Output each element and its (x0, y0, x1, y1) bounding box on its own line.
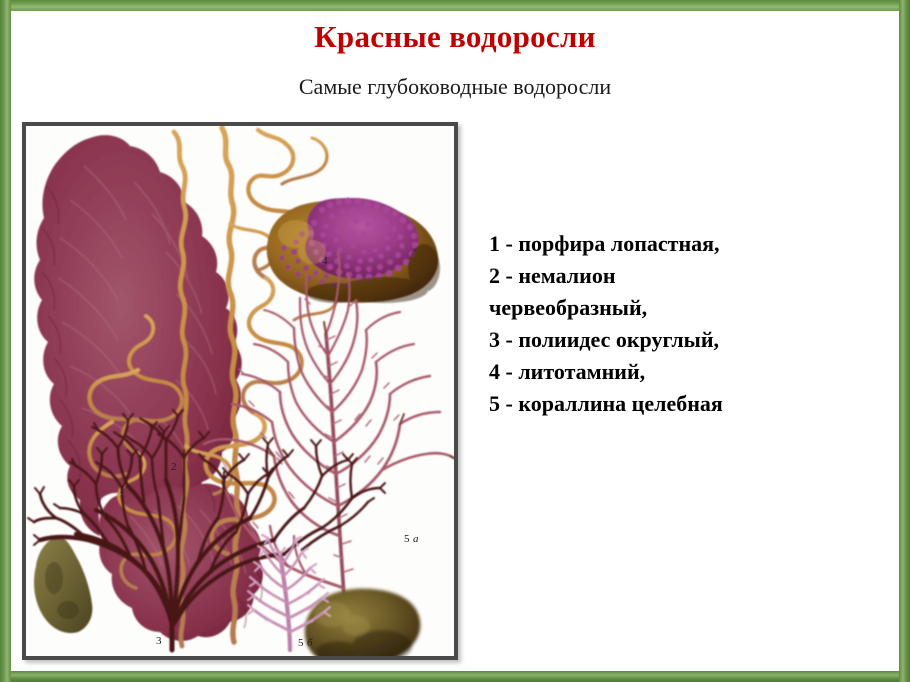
slide-title: Красные водоросли (0, 19, 910, 55)
plate-label-4: 4 (322, 255, 328, 267)
plate-label-5a: 5 (404, 533, 410, 545)
legend-line-4: 3 - полиидес округлый, (489, 324, 859, 356)
legend-line-1: 1 - порфира лопастная, (489, 228, 859, 260)
frame-border-top (0, 0, 910, 11)
legend-line-2: 2 - немалион (489, 260, 859, 292)
plate-label-5a-suffix: a (413, 533, 419, 545)
frame-border-left (0, 0, 11, 682)
plate-label-5b: 5 (298, 637, 304, 649)
legend-line-6: 5 - кораллина целебная (489, 388, 859, 420)
slide-canvas: Красные водоросли Самые глубоководные во… (0, 0, 910, 682)
illustration-svg: 1 2 4 3 5 a 5 б (26, 126, 454, 656)
legend-line-5: 4 - литотамний, (489, 356, 859, 388)
legend-line-3: червеобразный, (489, 292, 859, 324)
slide-subtitle: Самые глубоководные водоросли (0, 74, 910, 100)
plate-label-5b-suffix: б (307, 637, 313, 649)
frame-border-bottom (0, 671, 910, 682)
legend-list: 1 - порфира лопастная, 2 - немалион черв… (489, 228, 859, 420)
plate-label-3: 3 (156, 635, 162, 647)
plate-label-2: 2 (171, 461, 177, 473)
plate-label-1: 1 (119, 484, 125, 496)
frame-border-right (899, 0, 910, 682)
illustration-plate: 1 2 4 3 5 a 5 б (22, 122, 458, 660)
